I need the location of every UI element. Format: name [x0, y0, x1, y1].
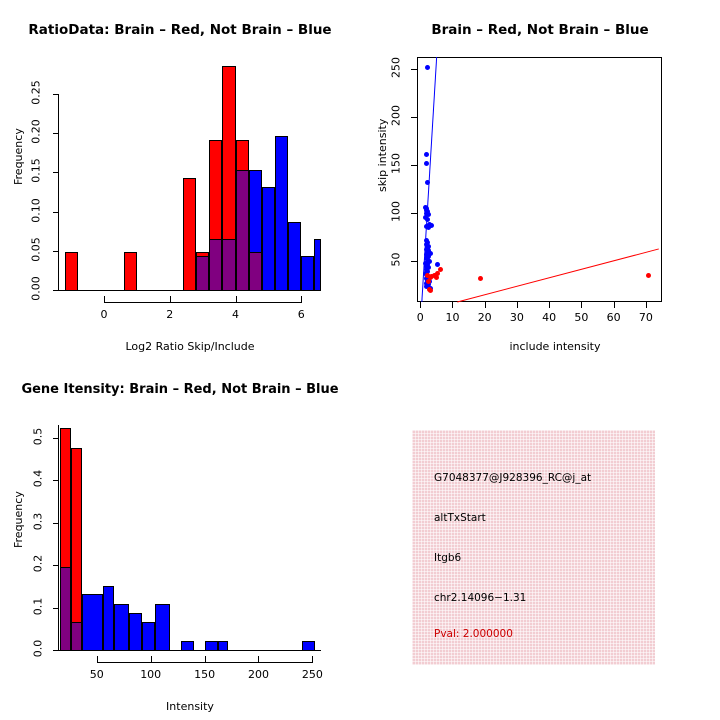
gene-x-tick-mark — [258, 656, 259, 663]
histogram-bar-not-brain — [82, 594, 104, 651]
histogram-bar-overlap — [236, 170, 249, 291]
ratio-y-tick-mark — [53, 290, 58, 291]
histogram-bar-not-brain — [205, 641, 218, 651]
intensity-scatter-panel: Brain – Red, Not Brain – Blue skip inten… — [360, 0, 720, 360]
ratio-x-tick-mark — [170, 296, 171, 303]
ratio-y-tick-mark — [53, 251, 58, 252]
ratio-y-tick-label: 0.10 — [30, 193, 43, 227]
gene-y-tick-mark — [53, 608, 58, 609]
histogram-bar-overlap — [60, 567, 71, 651]
ratio-histogram-ylabel: Frequency — [12, 128, 25, 185]
scatter-point-not-brain — [425, 217, 430, 222]
gene-x-tick-label: 250 — [290, 668, 334, 681]
histogram-bar-not-brain — [314, 239, 321, 291]
gene-y-tick-mark — [53, 438, 58, 439]
ratio-y-tick-label: 0.00 — [30, 272, 43, 306]
ratio-x-tick-mark — [104, 296, 105, 303]
red-diagonal — [457, 249, 658, 302]
histogram-bar-not-brain — [275, 136, 288, 291]
info-gene-symbol: Itgb6 — [434, 552, 461, 564]
ratio-y-tick-mark — [53, 172, 58, 173]
scatter-point-brain — [434, 275, 439, 280]
histogram-bar-not-brain — [114, 604, 129, 651]
info-event-type: altTxStart — [434, 512, 486, 524]
gene-y-tick-mark — [53, 565, 58, 566]
ratio-x-tick-mark — [301, 296, 302, 303]
histogram-bar-brain — [71, 448, 82, 651]
scatter-point-not-brain — [425, 180, 430, 185]
histogram-bar-not-brain — [129, 613, 142, 651]
histogram-bar-overlap — [71, 622, 82, 651]
gene-histogram-ylabel: Frequency — [12, 491, 25, 548]
gene-y-axis — [58, 425, 59, 650]
info-probe-id: G7048377@J928396_RC@j_at — [434, 472, 591, 484]
gene-histogram-xlabel: Intensity — [50, 700, 330, 713]
histogram-bar-not-brain — [262, 187, 275, 291]
ratio-histogram-title: RatioData: Brain – Red, Not Brain – Blue — [0, 22, 360, 38]
histogram-bar-not-brain — [218, 641, 229, 651]
ratio-y-tick-label: 0.05 — [30, 232, 43, 266]
gene-info-panel: G7048377@J928396_RC@j_at altTxStart Itgb… — [412, 430, 655, 665]
info-locus: chr2.14096−1.31 — [434, 592, 526, 604]
histogram-bar-not-brain — [142, 622, 155, 651]
ratio-y-tick-label: 0.15 — [30, 154, 43, 188]
scatter-point-not-brain — [424, 152, 429, 157]
gene-y-tick-mark — [53, 523, 58, 524]
ratio-x-tick-label: 2 — [150, 308, 190, 321]
scatter-reference-lines — [360, 0, 720, 360]
histogram-bar-overlap — [222, 239, 235, 291]
histogram-bar-brain — [124, 252, 137, 291]
gene-y-tick-label: 0.1 — [32, 591, 45, 621]
ratio-histogram-xlabel: Log2 Ratio Skip/Include — [50, 340, 330, 353]
ratio-histogram-panel: RatioData: Brain – Red, Not Brain – Blue… — [0, 0, 360, 360]
ratio-x-tick-rail — [104, 302, 301, 303]
gene-x-tick-label: 50 — [75, 668, 119, 681]
ratio-y-tick-label: 0.25 — [30, 76, 43, 110]
info-pval: Pval: 2.000000 — [434, 628, 513, 640]
ratio-x-tick-label: 6 — [281, 308, 321, 321]
ratio-x-tick-label: 4 — [216, 308, 256, 321]
gene-x-tick-label: 100 — [129, 668, 173, 681]
ratio-y-tick-mark — [53, 212, 58, 213]
gene-x-tick-mark — [97, 656, 98, 663]
ratio-x-tick-mark — [236, 296, 237, 303]
histogram-bar-not-brain — [103, 586, 114, 651]
scatter-point-not-brain — [426, 225, 431, 230]
histogram-bar-not-brain — [288, 222, 301, 291]
gene-intensity-panel: Gene Itensity: Brain – Red, Not Brain – … — [0, 360, 360, 720]
gene-x-tick-label: 150 — [183, 668, 227, 681]
ratio-y-axis — [58, 94, 59, 290]
histogram-bar-not-brain — [155, 604, 170, 651]
scatter-point-not-brain — [424, 161, 429, 166]
histogram-bar-brain — [183, 178, 196, 291]
gene-x-tick-label: 200 — [236, 668, 280, 681]
gene-y-tick-mark — [53, 650, 58, 651]
ratio-x-tick-label: 0 — [84, 308, 124, 321]
histogram-bar-not-brain — [302, 641, 315, 651]
gene-y-tick-label: 0.3 — [32, 506, 45, 536]
ratio-y-tick-mark — [53, 133, 58, 134]
histogram-bar-not-brain — [301, 256, 314, 291]
gene-y-tick-mark — [53, 480, 58, 481]
gene-x-tick-mark — [205, 656, 206, 663]
gene-x-tick-mark — [151, 656, 152, 663]
histogram-bar-overlap — [249, 252, 262, 291]
histogram-bar-brain — [65, 252, 78, 291]
histogram-bar-not-brain — [181, 641, 194, 651]
gene-y-tick-label: 0.4 — [32, 464, 45, 494]
gene-y-tick-label: 0.2 — [32, 549, 45, 579]
histogram-bar-overlap — [196, 256, 209, 291]
histogram-bar-overlap — [209, 239, 222, 291]
gene-x-tick-mark — [312, 656, 313, 663]
gene-y-tick-label: 0.5 — [32, 422, 45, 452]
ratio-y-tick-label: 0.20 — [30, 115, 43, 149]
ratio-y-tick-mark — [53, 94, 58, 95]
gene-y-tick-label: 0.0 — [32, 634, 45, 664]
gene-histogram-title: Gene Itensity: Brain – Red, Not Brain – … — [0, 382, 360, 397]
